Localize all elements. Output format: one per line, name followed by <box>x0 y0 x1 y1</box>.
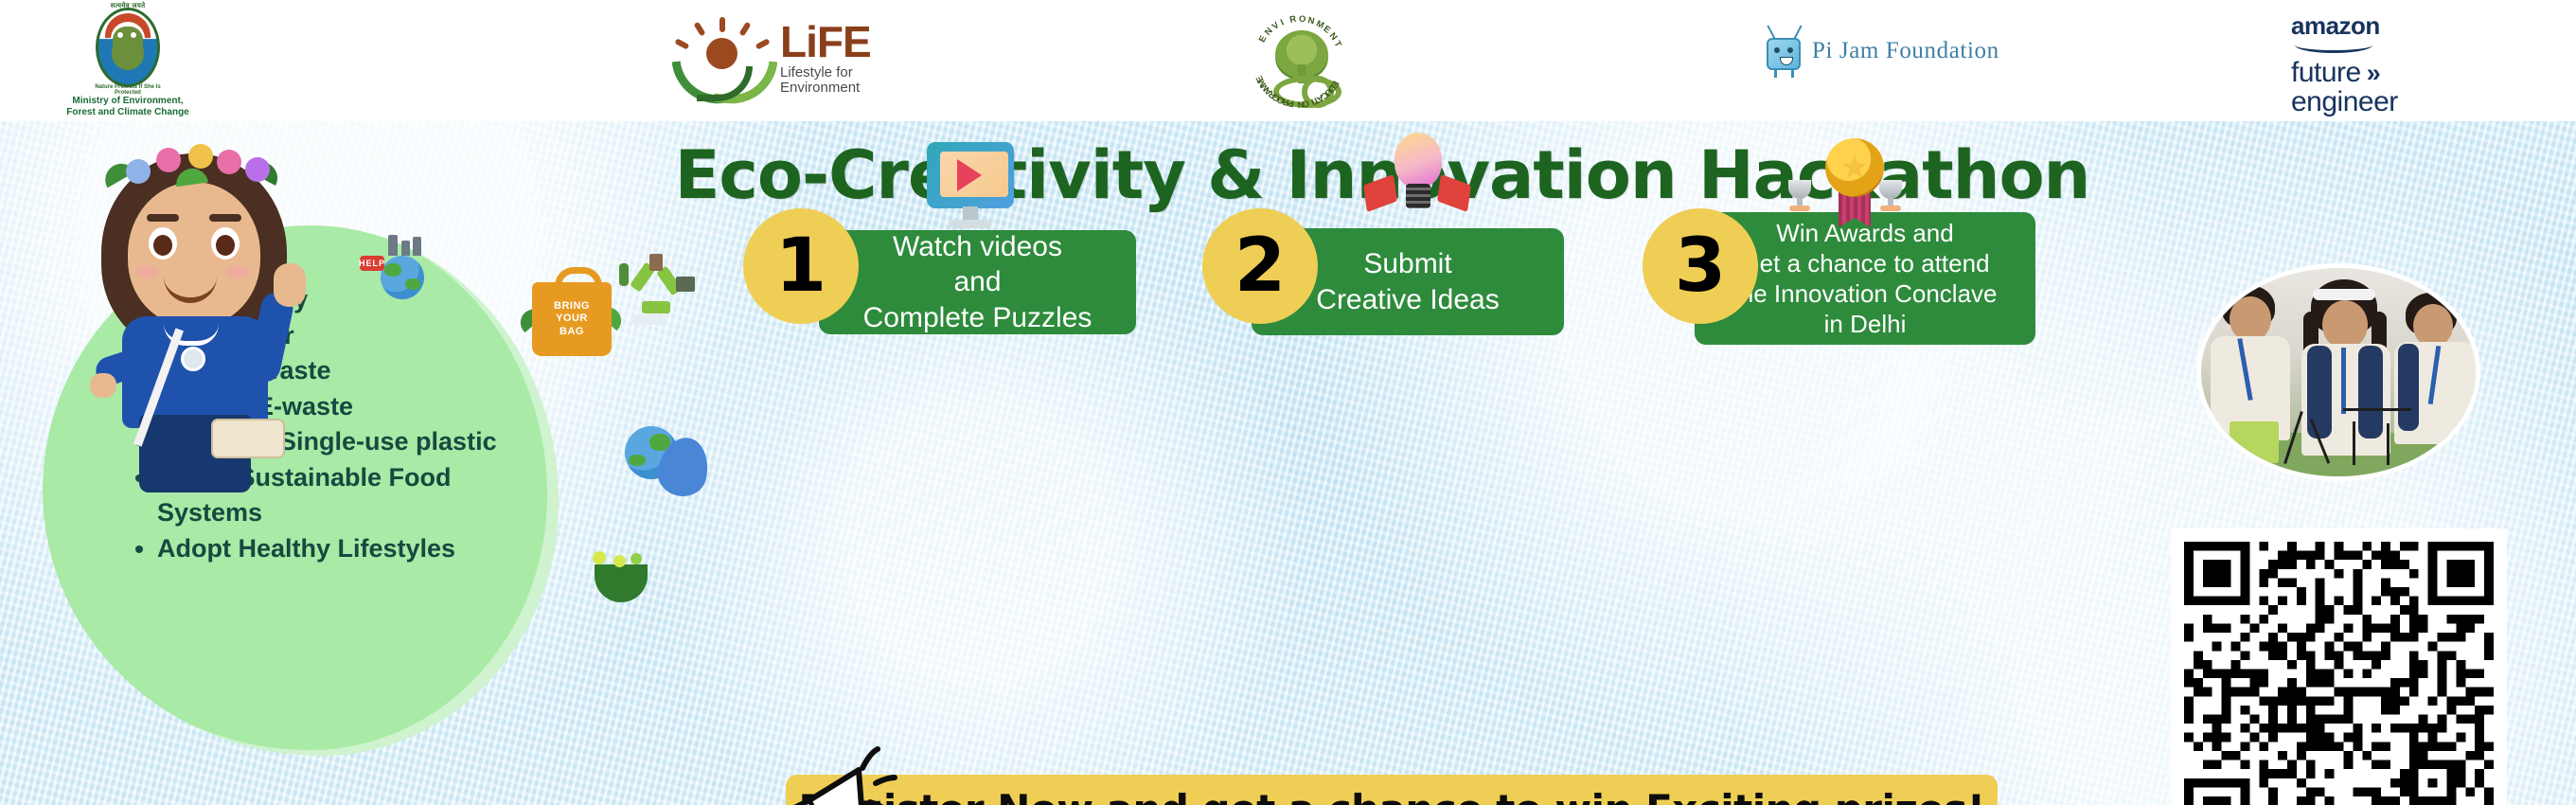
step-2-number: 2 <box>1202 208 1318 324</box>
engineer-text: engineer <box>2291 88 2398 117</box>
life-logo: LiFE Lifestyle for Environment <box>672 17 871 100</box>
emblem-motto-text: Nature Protects If She Is Protected <box>88 84 168 96</box>
environment-education-programme-logo: ENVIRONMENTEDUCATION PROGRAMME <box>1245 6 1359 117</box>
lightbulb-icon <box>1359 133 1472 235</box>
step-1-label: Watch videos and Complete Puzzles <box>819 230 1136 334</box>
pledge-item: Adopt Healthy Lifestyles <box>157 531 555 567</box>
poster-body: Eco-Creativity & Innovation Hackathon Sa… <box>0 121 2576 805</box>
recycling-waste-sticker <box>613 254 708 339</box>
pi-jam-title: Pi Jam Foundation <box>1812 38 1999 64</box>
ministry-of-environment-logo: सत्यमेव जयते Nature Protects If She Is P… <box>57 4 199 117</box>
eco-girl-mascot <box>52 131 336 500</box>
life-title: LiFE <box>780 22 871 62</box>
life-sun-leaf-icon <box>672 17 771 100</box>
qr-code-card[interactable] <box>2171 528 2507 805</box>
pi-jam-foundation-logo: Pi Jam Foundation <box>1761 25 1999 78</box>
partner-logo-bar: सत्यमेव जयते Nature Protects If She Is P… <box>0 0 2576 121</box>
amazon-future-engineer-logo: amazon future » engineer <box>2291 13 2398 117</box>
megaphone-icon <box>772 742 909 805</box>
step-3-number: 3 <box>1643 208 1758 324</box>
students-project-photo <box>2196 263 2480 481</box>
robot-icon <box>1761 25 1806 78</box>
register-banner[interactable]: Register Now and get a chance to win Exc… <box>786 775 1998 805</box>
future-text: future <box>2291 59 2361 88</box>
qr-code[interactable] <box>2184 542 2494 805</box>
amazon-wordmark: amazon <box>2291 13 2380 38</box>
poster: सत्यमेव जयते Nature Protects If She Is P… <box>0 0 2576 805</box>
chevron-right-icon: » <box>2367 59 2381 88</box>
life-subtitle-line2: Environment <box>780 80 860 96</box>
green-earth-sprouts-sticker <box>587 547 663 604</box>
earth-water-drop-sticker <box>625 424 720 491</box>
ministry-emblem-icon: सत्यमेव जयते Nature Protects If She Is P… <box>88 4 168 95</box>
video-monitor-icon <box>923 140 1018 235</box>
award-medal-icon: ★ <box>1780 138 1912 237</box>
ministry-caption: Ministry of Environment, Forest and Clim… <box>57 96 199 117</box>
life-subtitle-line1: Lifestyle for <box>780 64 853 80</box>
eep-circular-icon: ENVIRONMENTEDUCATION PROGRAMME <box>1245 6 1359 117</box>
register-banner-text: Register Now and get a chance to win Exc… <box>799 786 1985 805</box>
step-1-number: 1 <box>743 208 859 324</box>
polluted-earth-help-sticker: HELP <box>360 235 435 301</box>
flower-crown-icon <box>98 144 291 199</box>
